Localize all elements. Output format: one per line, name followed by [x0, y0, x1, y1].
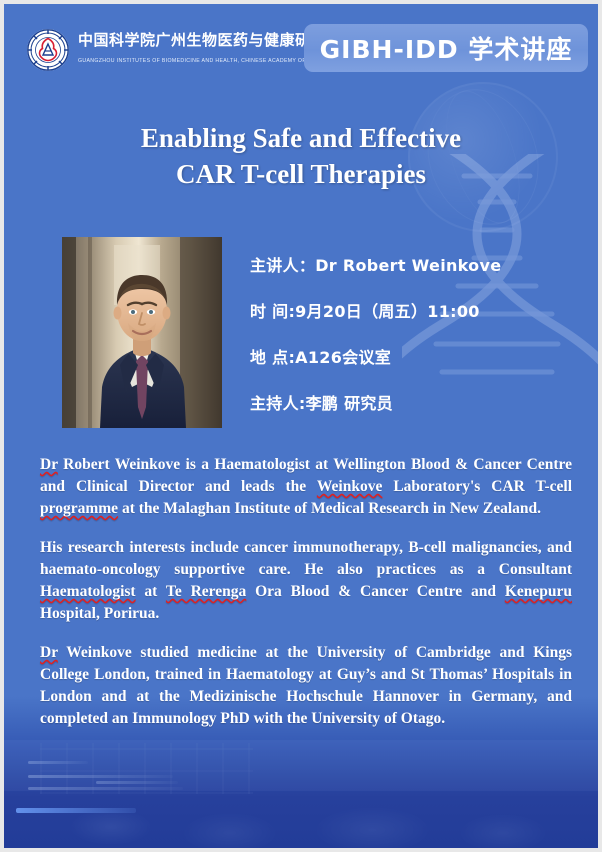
streak-line	[28, 775, 173, 778]
info-host: 主持人:李鹏 研究员	[250, 390, 600, 414]
streak-line	[28, 787, 183, 790]
spellcheck-word: programme	[40, 500, 118, 517]
cas-gibh-emblem-icon	[26, 28, 70, 72]
bio-paragraph: Dr Weinkove studied medicine at the Univ…	[40, 642, 572, 730]
streak-line	[96, 781, 178, 784]
event-info: 主讲人：Dr Robert Weinkove 时 间:9月20日（周五）11:0…	[250, 252, 600, 436]
spellcheck-word: Kenepuru	[505, 583, 572, 600]
series-banner: GIBH-IDD 学术讲座	[304, 24, 588, 72]
institute-name-cn: 中国科学院广州生物医药与健康研究院	[78, 31, 342, 49]
streak-line	[16, 808, 136, 813]
speaker-biography: Dr Robert Weinkove is a Haematologist at…	[40, 454, 572, 730]
poster-header: 中国科学院广州生物医药与健康研究院 GUANGZHOU INSTITUTES O…	[4, 4, 598, 96]
info-time: 时 间:9月20日（周五）11:00	[250, 298, 600, 322]
info-location: 地 点:A126会议室	[250, 344, 600, 368]
spellcheck-word: Dr	[40, 456, 58, 473]
lecture-title: Enabling Safe and Effective CAR T-cell T…	[4, 120, 598, 193]
institute-name-en: GUANGZHOU INSTITUTES OF BIOMEDICINE AND …	[78, 58, 337, 64]
series-banner-label: GIBH-IDD 学术讲座	[320, 30, 573, 66]
spellcheck-word: Dr	[40, 644, 58, 661]
spellcheck-word: Haematologist	[40, 583, 136, 600]
streak-line	[28, 761, 88, 764]
spellcheck-word: Weinkove	[317, 478, 382, 495]
speaker-photo	[62, 237, 222, 428]
seminar-poster: 中国科学院广州生物医药与健康研究院 GUANGZHOU INSTITUTES O…	[0, 0, 602, 852]
spellcheck-word: Te Rerenga	[166, 583, 246, 600]
decorative-streaks	[4, 728, 598, 848]
bio-paragraph: His research interests include cancer im…	[40, 537, 572, 625]
info-speaker: 主讲人：Dr Robert Weinkove	[250, 252, 600, 276]
bio-paragraph: Dr Robert Weinkove is a Haematologist at…	[40, 454, 572, 520]
